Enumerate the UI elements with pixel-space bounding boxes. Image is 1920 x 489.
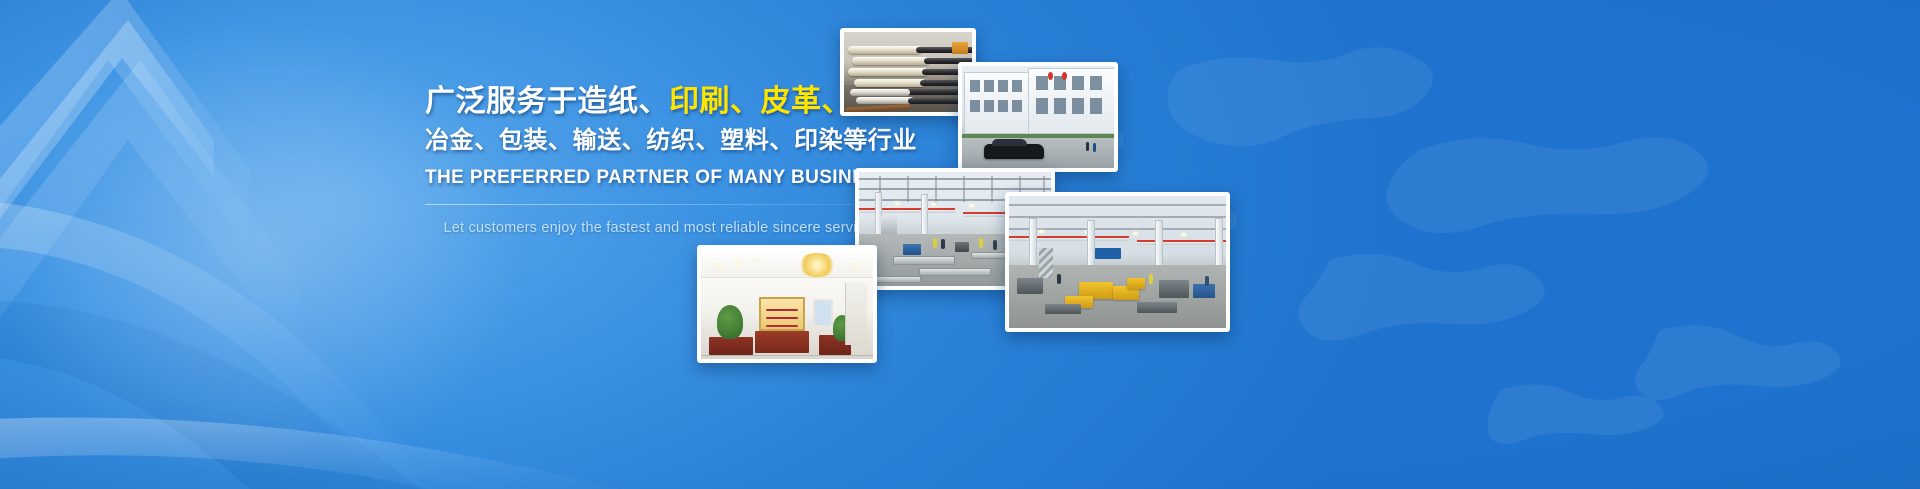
photo-office-reception bbox=[697, 245, 877, 363]
hero-banner: 广泛服务于造纸、印刷、皮革、压延、 冶金、包装、输送、纺织、塑料、印染等行业 T… bbox=[0, 0, 1920, 489]
photo-workshop-yellow bbox=[1005, 192, 1230, 332]
photo-rollers bbox=[840, 28, 976, 116]
photo-collage bbox=[0, 0, 1920, 489]
photo-factory-exterior bbox=[958, 62, 1118, 172]
